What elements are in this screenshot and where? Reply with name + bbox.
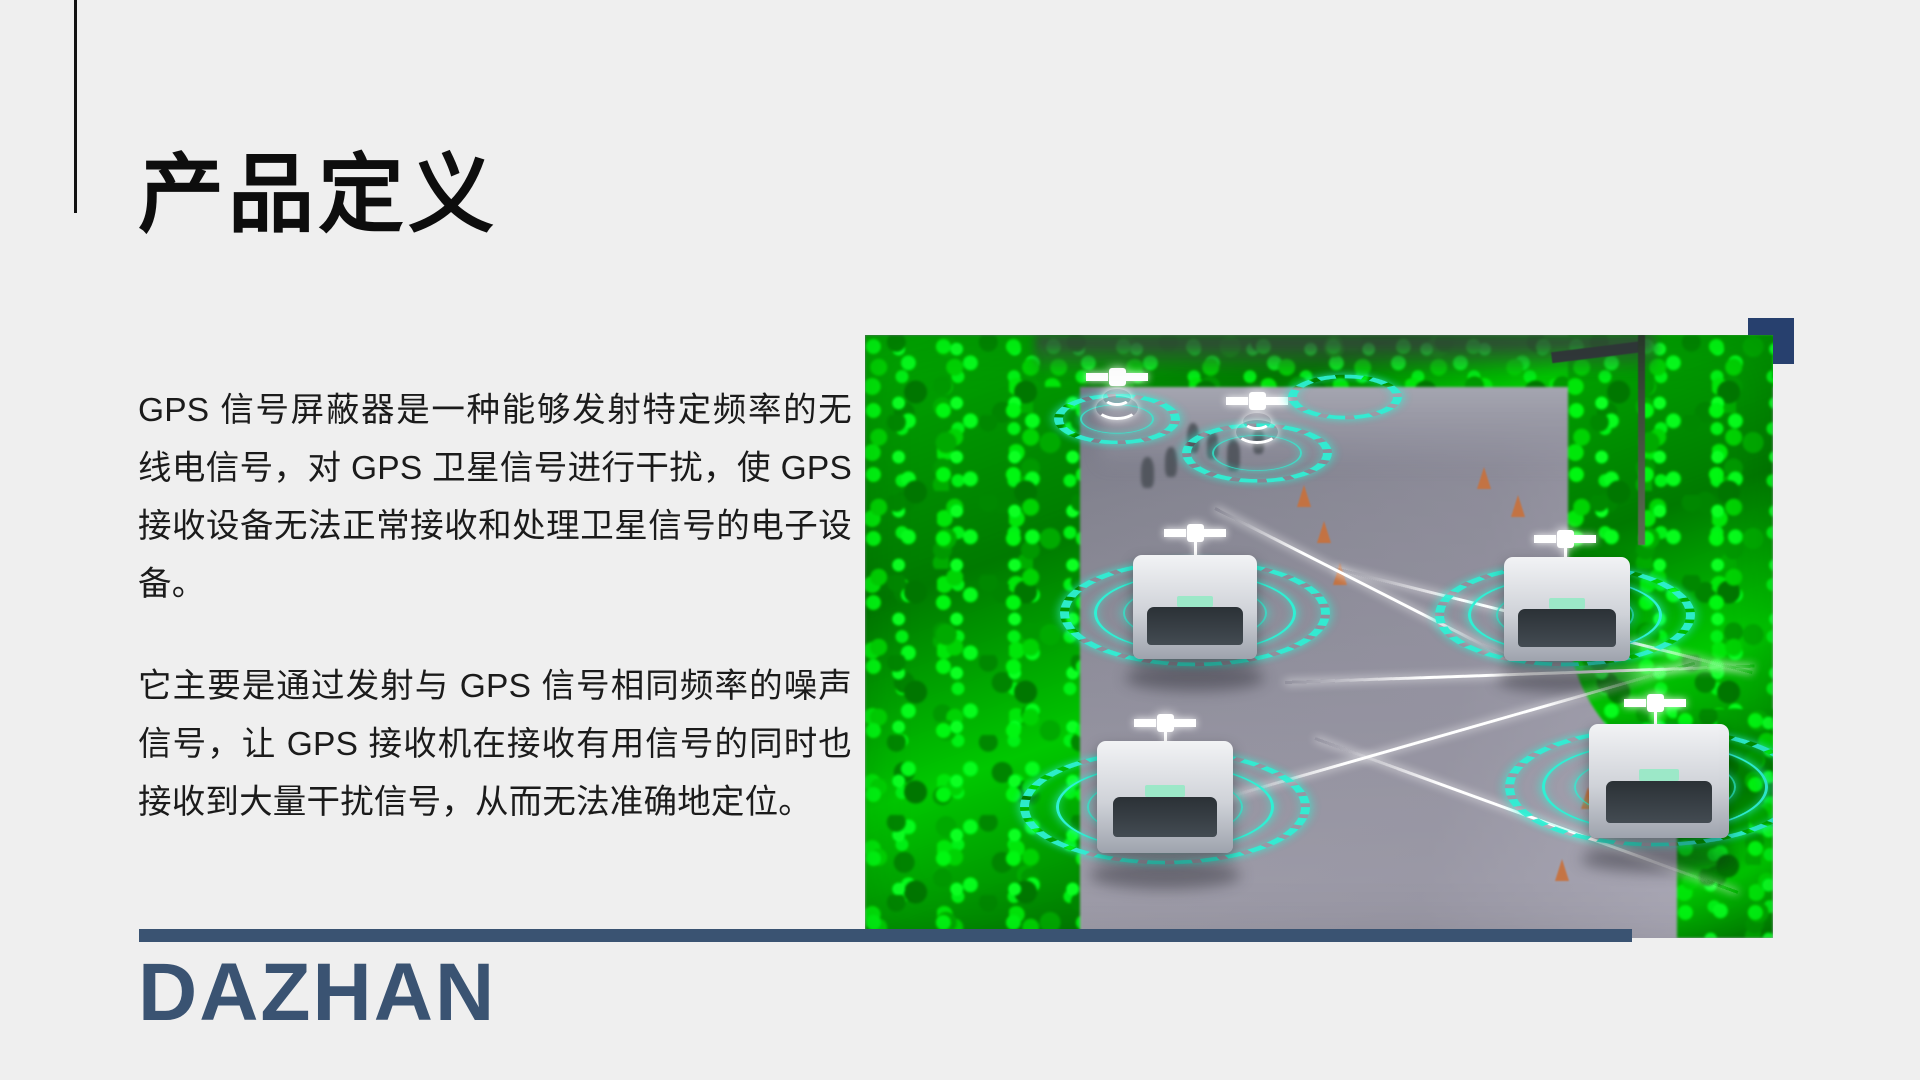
satellite-panel-right [1664, 699, 1686, 707]
satellite-panel-right [1174, 719, 1196, 727]
hero-photo [865, 335, 1773, 938]
distant-figure [1165, 447, 1177, 477]
street-pole [1638, 335, 1645, 545]
satellite-body [1557, 530, 1574, 548]
car-shadow [1497, 667, 1637, 693]
brand-rule [139, 929, 1632, 942]
traffic-cone [1511, 495, 1525, 517]
body-paragraph-2: 它主要是通过发射与 GPS 信号相同频率的噪声信号，让 GPS 接收机在接收有用… [138, 658, 852, 832]
satellite-body [1647, 694, 1664, 712]
satellite-panel-left [1134, 719, 1156, 727]
car-windshield [1147, 607, 1243, 645]
satellite-panel-right [1204, 529, 1226, 537]
photo-scene [865, 335, 1773, 938]
satellite-panel-left [1226, 397, 1248, 405]
traffic-cone [1317, 521, 1331, 543]
satellite-body [1249, 392, 1266, 410]
car-shadow [1125, 665, 1265, 691]
body-paragraph-1: GPS 信号屏蔽器是一种能够发射特定频率的无线电信号，对 GPS 卫星信号进行干… [138, 382, 852, 614]
body-copy: GPS 信号屏蔽器是一种能够发射特定频率的无线电信号，对 GPS 卫星信号进行干… [138, 382, 852, 832]
car-windshield [1113, 797, 1217, 837]
satellite-panel-left [1086, 373, 1108, 381]
car-shadow [1089, 861, 1241, 889]
traffic-cone [1297, 485, 1311, 507]
signal-wave [1236, 420, 1278, 444]
satellite-body [1157, 714, 1174, 732]
slide-canvas: 产品定义 GPS 信号屏蔽器是一种能够发射特定频率的无线电信号，对 GPS 卫星… [0, 0, 1920, 1080]
title-accent-rule [74, 0, 77, 213]
sensor-ring-group [1297, 379, 1393, 415]
satellite-panel-right [1574, 535, 1596, 543]
page-title: 产品定义 [138, 150, 498, 241]
car-shadow [1581, 845, 1737, 873]
car-windshield [1606, 781, 1712, 823]
car-plate [1639, 769, 1679, 781]
satellite-panel-left [1164, 529, 1186, 537]
distant-figure [1141, 457, 1154, 488]
car-windshield [1518, 609, 1616, 647]
satellite-panel-right [1126, 373, 1148, 381]
sensor-ring-outer [1288, 375, 1402, 420]
satellite-panel-left [1534, 535, 1556, 543]
car-plate [1549, 598, 1585, 609]
satellite-panel-right [1266, 397, 1288, 405]
car-plate [1145, 785, 1185, 797]
traffic-cone [1477, 467, 1491, 489]
signal-wave [1096, 396, 1138, 420]
satellite-body [1187, 524, 1204, 542]
car-plate [1177, 596, 1213, 607]
brand-wordmark: DAZHAN [138, 952, 496, 1034]
satellite-body [1109, 368, 1126, 386]
satellite-panel-left [1624, 699, 1646, 707]
traffic-cone [1555, 859, 1569, 881]
